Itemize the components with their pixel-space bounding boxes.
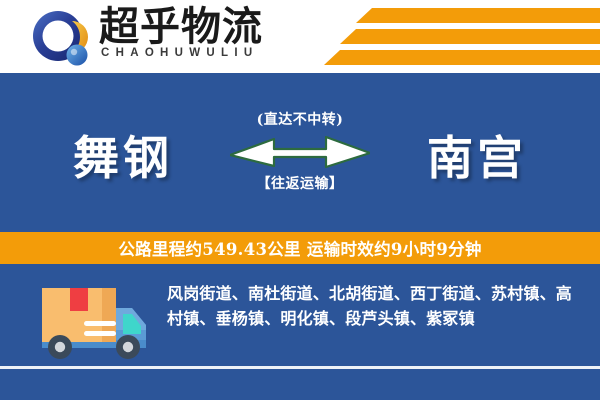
brand-name-cn: 超乎物流 <box>99 5 263 49</box>
origin-city: 舞钢 <box>18 105 228 205</box>
route-note-bottom: 【往返运输】 <box>228 173 372 193</box>
route-info-bar: 公路里程约549.43公里 运输时效约9小时9分钟 <box>0 232 600 264</box>
bottom-divider <box>0 366 600 369</box>
coverage-areas-text: 风岗街道、南杜街道、北胡街道、西丁街道、苏村镇、高村镇、垂杨镇、明化镇、段芦头镇… <box>167 281 585 331</box>
route-row: 舞钢 (直达不中转) 【往返运输】 南宫 <box>0 105 600 205</box>
banner-header: 超乎物流 CHAOHUWULIU <box>0 0 600 73</box>
route-info-summary: 公路里程约549.43公里 运输时效约9小时9分钟 <box>118 236 481 260</box>
brand-name-en: CHAOHUWULIU <box>101 47 258 59</box>
chaohu-circle-logo-icon <box>31 9 93 69</box>
destination-city: 南宫 <box>372 105 582 205</box>
route-middle: (直达不中转) 【往返运输】 <box>228 105 372 205</box>
delivery-truck-icon <box>28 280 153 362</box>
double-headed-arrow-icon <box>230 133 370 169</box>
logistics-route-banner: 超乎物流 CHAOHUWULIU 舞钢 (直达不中转) 【往返运输】 南宫 <box>0 0 600 400</box>
orange-speed-stripes-icon <box>310 8 600 66</box>
route-note-top: (直达不中转) <box>228 109 372 129</box>
